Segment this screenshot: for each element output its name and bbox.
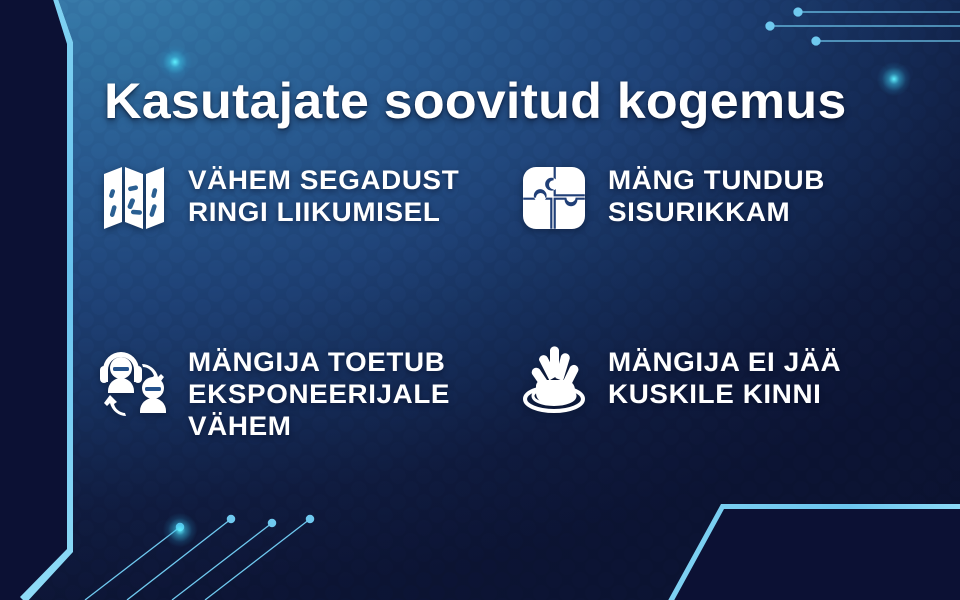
- page-title: Kasutajate soovitud kogemus: [104, 72, 846, 130]
- benefit-item-less-host-reliance: MÄNGIJA TOETUB EKSPONEERIJALE VÄHEM: [96, 340, 516, 442]
- slide-content: Kasutajate soovitud kogemus: [0, 0, 960, 600]
- folded-map-icon: [96, 158, 172, 238]
- slide-canvas: Kasutajate soovitud kogemus: [0, 0, 960, 600]
- benefit-label: MÄNGIJA EI JÄÄ KUSKILE KINNI: [608, 340, 921, 410]
- benefits-grid: VÄHEM SEGADUST RINGI LIIKUMISEL: [96, 158, 912, 442]
- hand-out-of-ring-icon: [516, 340, 592, 420]
- puzzle-pieces-icon: [516, 158, 592, 238]
- benefit-item-less-confusion: VÄHEM SEGADUST RINGI LIIKUMISEL: [96, 158, 516, 340]
- benefit-item-no-getting-stuck: MÄNGIJA EI JÄÄ KUSKILE KINNI: [516, 340, 912, 442]
- benefit-label: MÄNGIJA TOETUB EKSPONEERIJALE VÄHEM: [188, 340, 526, 442]
- benefit-label: VÄHEM SEGADUST RINGI LIIKUMISEL: [188, 158, 526, 228]
- benefit-item-richer-content: MÄNG TUNDUB SISURIKKAM: [516, 158, 912, 340]
- benefit-label: MÄNG TUNDUB SISURIKKAM: [608, 158, 921, 228]
- support-handoff-icon: [96, 340, 172, 420]
